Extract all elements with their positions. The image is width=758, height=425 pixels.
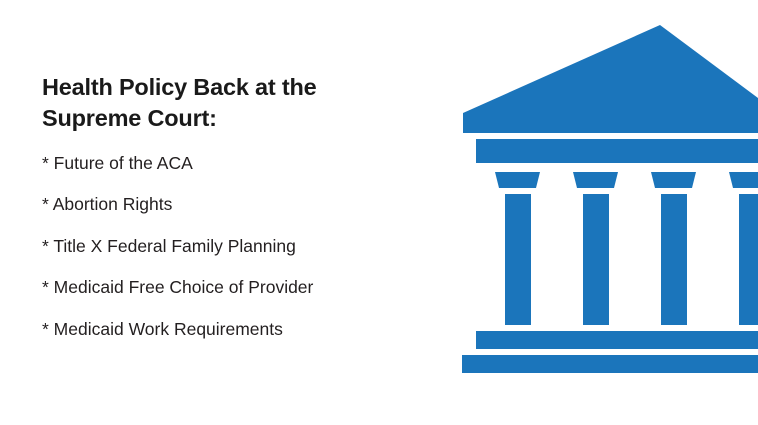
column-3-shaft — [661, 194, 687, 325]
column-1-shaft — [505, 194, 531, 325]
list-item: * Title X Federal Family Planning — [42, 238, 442, 256]
list-item: * Medicaid Work Requirements — [42, 321, 442, 339]
column-2-shaft — [583, 194, 609, 325]
slide-canvas: Health Policy Back at the Supreme Court:… — [0, 0, 758, 425]
column-3-capital — [651, 172, 696, 188]
architrave-band — [476, 139, 758, 163]
list-item: * Future of the ACA — [42, 155, 442, 173]
upper-base-step — [476, 331, 758, 349]
column-4-shaft — [739, 194, 758, 325]
column-2-capital — [573, 172, 618, 188]
page-title: Health Policy Back at the Supreme Court: — [42, 72, 442, 135]
bullet-list: * Future of the ACA * Abortion Rights * … — [42, 155, 442, 339]
text-content-block: Health Policy Back at the Supreme Court:… — [42, 72, 442, 338]
column-1-capital — [495, 172, 540, 188]
courthouse-icon — [440, 0, 758, 425]
list-item: * Medicaid Free Choice of Provider — [42, 279, 442, 297]
list-item: * Abortion Rights — [42, 196, 442, 214]
column-4-capital — [729, 172, 758, 188]
courthouse-svg — [440, 0, 758, 425]
roof-base-bar — [463, 113, 758, 133]
lower-base-step — [462, 355, 758, 373]
